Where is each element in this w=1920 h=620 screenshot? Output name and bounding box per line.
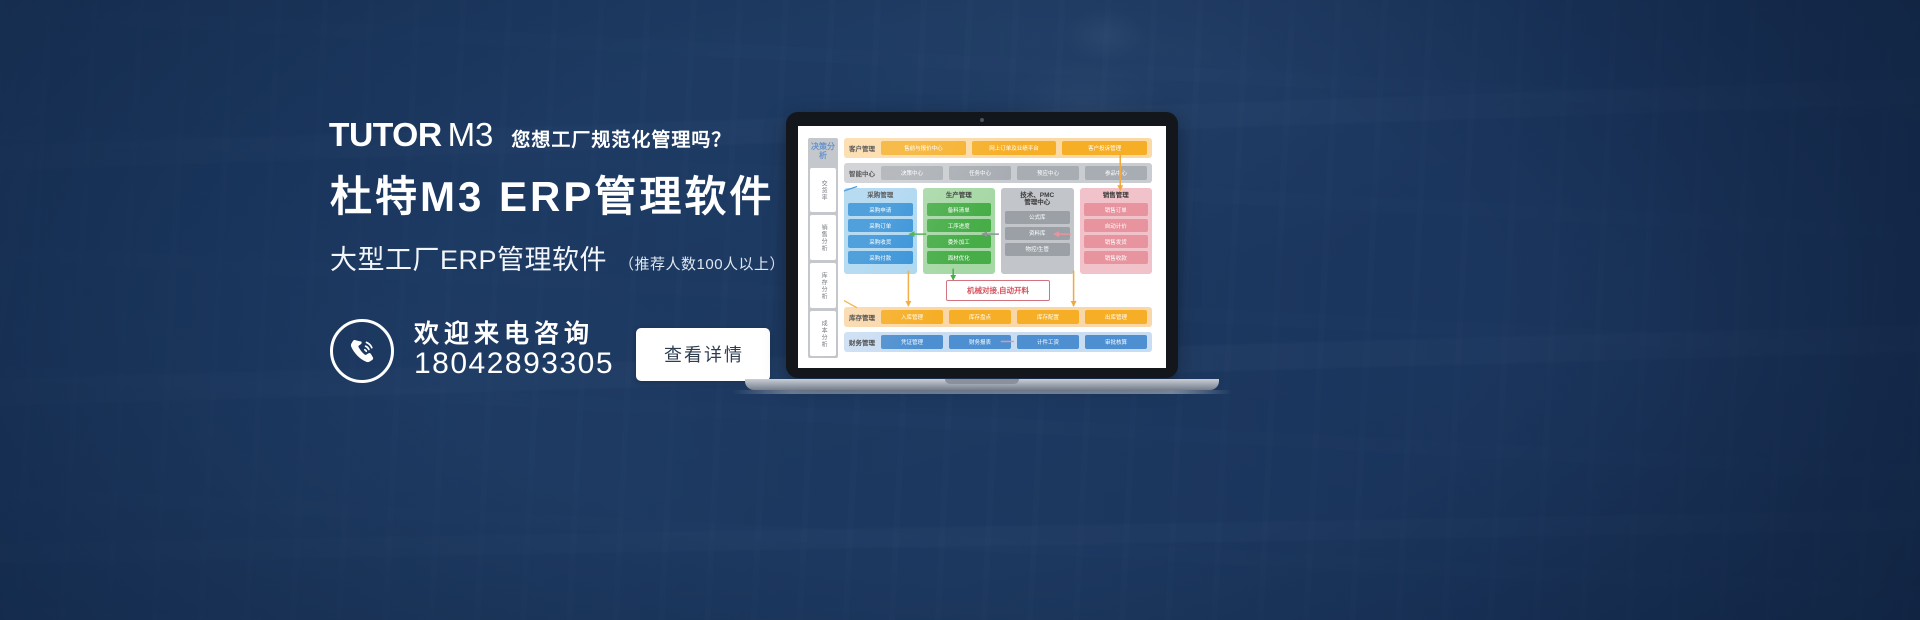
erp-sidebar-item-0[interactable]: 交货率 [810,168,836,213]
erp-row-customer-chip-2[interactable]: 客户投诉管理 [1062,141,1147,155]
erp-row-smart-chip-2[interactable]: 预应中心 [1017,166,1079,180]
phone-text-block: 欢迎来电咨询 18042893305 [414,321,614,380]
webcam-icon [980,118,984,122]
erp-column-technology-title: 技术、PMC 管理中心 [1005,192,1070,207]
phone-number[interactable]: 18042893305 [414,348,614,380]
erp-row-inventory-title: 库存管理 [849,312,875,322]
erp-callout-banner: 机械对接,自动开料 [946,280,1050,301]
erp-column-purchase-title: 采购管理 [848,192,913,199]
erp-column-production-item-0[interactable]: 备料清单 [927,203,992,216]
erp-row-inventory-chip-1[interactable]: 库存盘点 [949,310,1011,324]
erp-column-sales-item-0[interactable]: 销售订单 [1084,203,1149,216]
erp-column-production: 生产管理 备料清单 工序进度 委外加工 面材优化 [923,188,996,274]
laptop-base [745,379,1219,390]
erp-row-customer-chip-0[interactable]: 售前与报价中心 [881,141,966,155]
erp-row-finance-chip-1[interactable]: 财务报表 [949,335,1011,349]
phone-label: 欢迎来电咨询 [414,321,614,348]
erp-columns: 采购管理 采购申请 采购订单 采购收货 采购付款 生产管理 备料清单 工序进度 … [844,188,1152,274]
erp-row-customer-title: 客户管理 [849,143,875,153]
promo-banner: TUTOR M3 您想工厂规范化管理吗？ 杜特M3 ERP管理软件 大型工厂ER… [0,0,1920,620]
brand-logo-m3: M3 [448,118,494,151]
erp-column-production-item-2[interactable]: 委外加工 [927,235,992,248]
erp-row-inventory-chip-3[interactable]: 出库管理 [1085,310,1147,324]
erp-row-finance-title: 财务管理 [849,337,875,347]
erp-row-smart: 智能中心 决策中心 任务中心 预应中心 参品中心 [844,163,1152,183]
erp-sidebar-item-1[interactable]: 销售分析 [810,215,836,260]
erp-row-finance-chip-0[interactable]: 凭证管理 [881,335,943,349]
erp-column-purchase-item-1[interactable]: 采购订单 [848,219,913,232]
phone-icon[interactable] [330,319,394,383]
erp-column-sales-title: 销售管理 [1084,192,1149,199]
laptop-screen: 决策分析 交货率 销售分析 库存分析 成本分析 客户管理 售前与报价中心 网上订… [798,126,1166,368]
erp-column-sales-item-2[interactable]: 销售发货 [1084,235,1149,248]
laptop-notch [945,379,1019,384]
brand-logo-tutor: TUTOR [329,118,442,151]
erp-row-customer-chip-1[interactable]: 网上订单及业绩平台 [972,141,1057,155]
erp-column-purchase: 采购管理 采购申请 采购订单 采购收货 采购付款 [844,188,917,274]
erp-row-smart-chip-3[interactable]: 参品中心 [1085,166,1147,180]
laptop-shadow [732,390,1232,394]
erp-column-production-item-3[interactable]: 面材优化 [927,251,992,264]
erp-column-technology: 技术、PMC 管理中心 公式库 资料库 物控/生管 [1001,188,1074,274]
erp-column-technology-item-1[interactable]: 资料库 [1005,227,1070,240]
erp-column-sales-item-1[interactable]: 自动计价 [1084,219,1149,232]
erp-row-smart-chip-1[interactable]: 任务中心 [949,166,1011,180]
erp-column-purchase-item-0[interactable]: 采购申请 [848,203,913,216]
erp-row-finance-chip-2[interactable]: 计件工资 [1017,335,1079,349]
erp-row-smart-title: 智能中心 [849,168,875,178]
erp-column-purchase-item-3[interactable]: 采购付款 [848,251,913,264]
erp-sidebar: 决策分析 交货率 销售分析 库存分析 成本分析 [808,138,838,358]
eyebrow-question: 您想工厂规范化管理吗？ [511,131,731,150]
erp-column-sales-item-3[interactable]: 销售收款 [1084,251,1149,264]
erp-sidebar-heading: 决策分析 [810,140,836,165]
view-details-button[interactable]: 查看详情 [636,328,770,381]
erp-row-finance: 财务管理 凭证管理 财务报表 计件工资 审批核算 [844,332,1152,352]
erp-main: 客户管理 售前与报价中心 网上订单及业绩平台 客户投诉管理 智能中心 决策中心 … [844,138,1152,358]
subtitle-note: （推荐人数100人以上） [619,253,785,274]
erp-column-purchase-item-2[interactable]: 采购收货 [848,235,913,248]
erp-sidebar-item-2[interactable]: 库存分析 [810,263,836,308]
erp-column-sales: 销售管理 销售订单 自动计价 销售发货 销售收款 [1080,188,1153,274]
erp-sidebar-item-3[interactable]: 成本分析 [810,311,836,356]
erp-column-technology-item-2[interactable]: 物控/生管 [1005,243,1070,256]
erp-column-production-title: 生产管理 [927,192,992,199]
erp-row-inventory-chip-2[interactable]: 库存配置 [1017,310,1079,324]
laptop-mockup: 决策分析 交货率 销售分析 库存分析 成本分析 客户管理 售前与报价中心 网上订… [786,112,1232,394]
laptop-lid: 决策分析 交货率 销售分析 库存分析 成本分析 客户管理 售前与报价中心 网上订… [786,112,1178,378]
erp-row-customer: 客户管理 售前与报价中心 网上订单及业绩平台 客户投诉管理 [844,138,1152,158]
erp-diagram: 决策分析 交货率 销售分析 库存分析 成本分析 客户管理 售前与报价中心 网上订… [798,126,1166,368]
erp-row-finance-chip-3[interactable]: 审批核算 [1085,335,1147,349]
erp-row-inventory-chip-0[interactable]: 入库管理 [881,310,943,324]
erp-column-production-item-1[interactable]: 工序进度 [927,219,992,232]
erp-row-smart-chip-0[interactable]: 决策中心 [881,166,943,180]
subtitle-text: 大型工厂ERP管理软件 [330,238,607,277]
erp-column-technology-item-0[interactable]: 公式库 [1005,211,1070,224]
erp-row-inventory: 库存管理 入库管理 库存盘点 库存配置 出库管理 [844,307,1152,327]
